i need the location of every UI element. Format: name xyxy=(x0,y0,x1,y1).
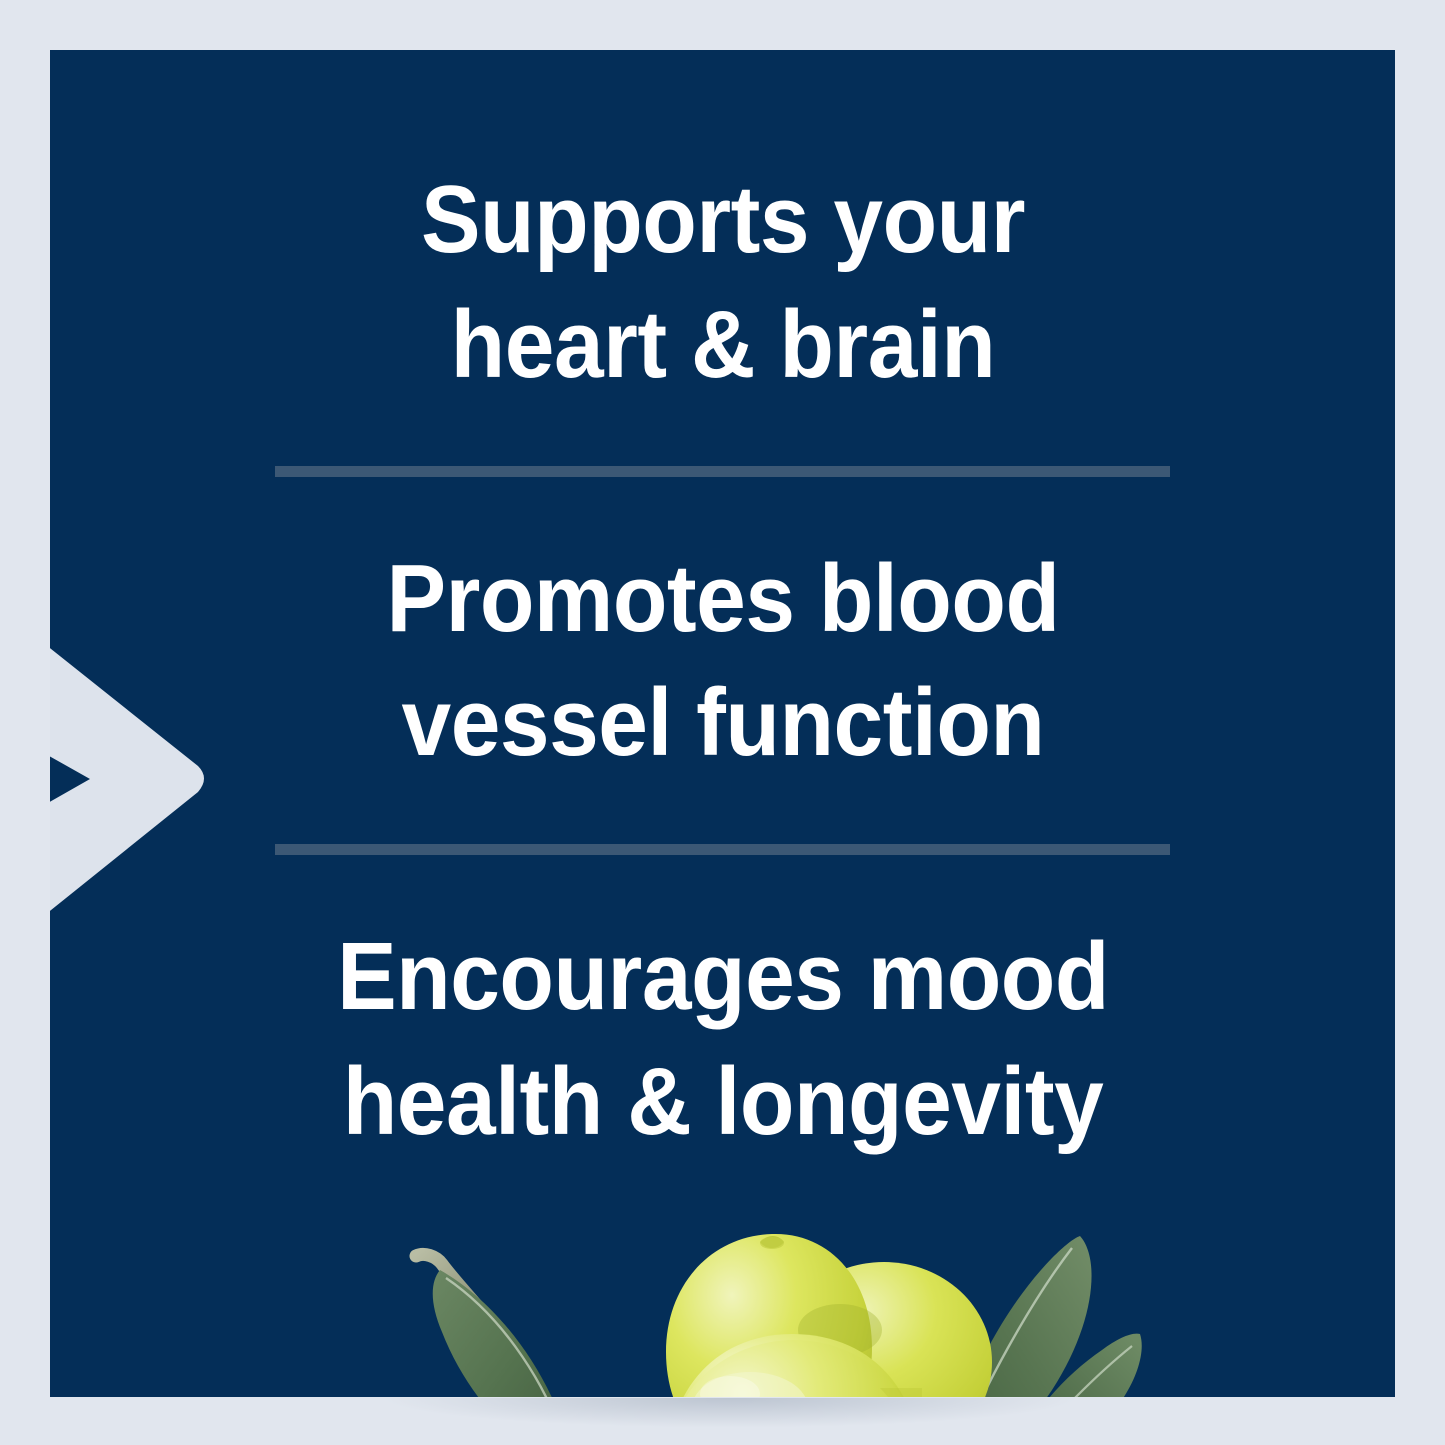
benefit-item-1: Supports your heart & brain xyxy=(290,158,1155,408)
olives-ground-shadow xyxy=(380,1398,1080,1428)
navy-panel: Supports your heart & brain Promotes blo… xyxy=(50,50,1395,1397)
benefit-item-3: Encourages mood health & longevity xyxy=(290,915,1155,1165)
benefits-card: Supports your heart & brain Promotes blo… xyxy=(0,0,1445,1445)
benefits-list: Supports your heart & brain Promotes blo… xyxy=(50,50,1395,1180)
olives-image xyxy=(380,1212,1180,1397)
divider-1 xyxy=(275,466,1170,477)
divider-2 xyxy=(275,844,1170,855)
benefit-item-2: Promotes blood vessel function xyxy=(290,537,1155,787)
